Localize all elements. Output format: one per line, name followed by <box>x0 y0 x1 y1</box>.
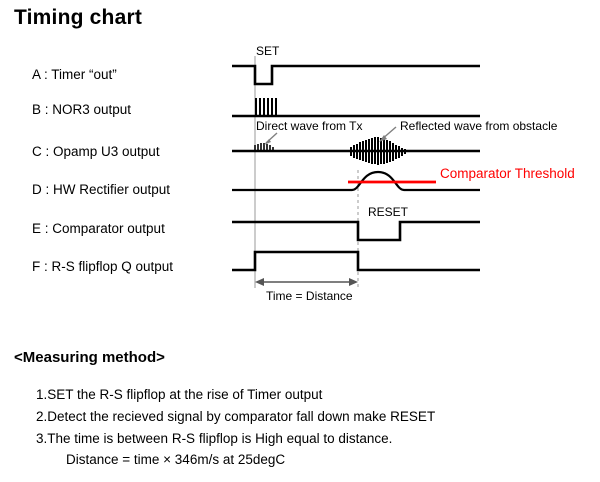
method-step-2: 2.Detect the recieved signal by comparat… <box>36 409 435 424</box>
direct-wave-label: Direct wave from Tx <box>256 119 362 133</box>
reset-label: RESET <box>368 205 409 219</box>
waveform-nor3-output <box>232 98 480 116</box>
comparator-threshold-label: Comparator Threshold <box>440 166 575 181</box>
reflected-wave-burst <box>351 137 405 165</box>
method-step-3: 3.The time is between R-S flipflop is Hi… <box>36 431 392 446</box>
method-step-1: 1.SET the R-S flipflop at the rise of Ti… <box>36 387 322 402</box>
waveform-comparator-output <box>232 222 480 240</box>
direct-wave-burst <box>255 143 273 151</box>
time-distance-measure <box>255 278 358 286</box>
waveform-rs-flipflop-q-output <box>232 252 480 270</box>
reflected-wave-arrow-icon <box>379 127 396 142</box>
method-formula: Distance = time × 346m/s at 25degC <box>66 452 285 467</box>
time-distance-label: Time = Distance <box>266 289 353 303</box>
waveform-timer-out <box>232 66 480 84</box>
timing-chart-diagram: SET <box>0 0 600 340</box>
measuring-method-heading: <Measuring method> <box>14 349 165 366</box>
reflected-wave-label: Reflected wave from obstacle <box>400 119 558 133</box>
direct-wave-arrow-icon <box>264 133 277 145</box>
set-label: SET <box>256 44 280 58</box>
